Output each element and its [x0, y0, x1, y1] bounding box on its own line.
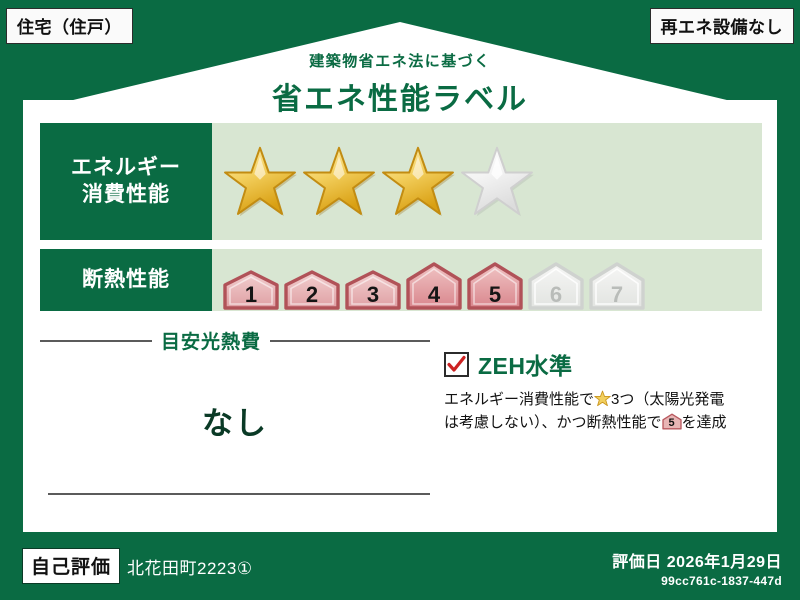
energy-performance-value	[212, 123, 762, 240]
insulation-performance-row: 断熱性能 1234567	[40, 249, 762, 311]
zeh-desc-part1: エネルギー消費性能で	[444, 391, 594, 408]
zeh-desc-star-count: 3つ（太陽光発電	[611, 391, 724, 408]
star-filled-icon	[301, 144, 377, 220]
inline-grade-badge: 5	[662, 413, 682, 430]
star-filled-icon	[222, 144, 298, 220]
insulation-grade-2: 2	[282, 269, 342, 311]
evaluation-type-badge: 自己評価	[22, 548, 120, 584]
label-content: エネルギー 消費性能 断熱性能 1234567 目安光熱費	[40, 123, 762, 495]
title-subtitle: 建築物省エネ法に基づく	[0, 50, 800, 71]
star-filled-icon	[380, 144, 456, 220]
zeh-title: ZEH水準	[478, 347, 573, 381]
page-title: 建築物省エネ法に基づく 省エネ性能ラベル	[0, 50, 800, 118]
insulation-grade-6: 6	[526, 261, 586, 311]
property-address: 北花田町2223①	[127, 554, 253, 579]
zeh-checkbox[interactable]	[444, 352, 469, 377]
insulation-label-text: 断熱性能	[82, 267, 170, 294]
zeh-desc-part2: は考慮しない）、かつ断熱性能で	[444, 414, 662, 431]
zeh-block: ZEH水準 エネルギー消費性能で 3つ（太陽光発電 は考慮しない）、かつ断熱性能…	[430, 327, 762, 495]
insulation-performance-label: 断熱性能	[40, 249, 212, 311]
insulation-performance-value: 1234567	[212, 249, 762, 311]
inline-grade-number: 5	[662, 418, 682, 429]
star-empty-icon	[459, 144, 535, 220]
energy-performance-label: 住宅（住戸） 再エネ設備なし 建築物省エネ法に基づく 省エネ性能ラベル エネルギ…	[0, 0, 800, 600]
footer-right-group: 評価日 2026年1月29日 99cc761c-1837-447d	[612, 548, 782, 588]
grade-number-7: 7	[587, 284, 647, 306]
insulation-grade-1: 1	[221, 269, 281, 311]
check-icon	[447, 355, 466, 374]
heading-rule-right	[270, 340, 430, 342]
label-footer: 自己評価 北花田町2223① 評価日 2026年1月29日 99cc761c-1…	[0, 532, 800, 600]
insulation-grade-5: 5	[465, 261, 525, 311]
renewable-energy-tag: 再エネ設備なし	[650, 8, 795, 44]
lower-section: 目安光熱費 なし ZEH水準 エネルギー消費性能で	[40, 327, 762, 495]
building-type-tag: 住宅（住戸）	[6, 8, 133, 44]
evaluation-date: 評価日 2026年1月29日	[612, 548, 782, 572]
zeh-heading: ZEH水準	[444, 347, 762, 381]
grade-number-1: 1	[221, 284, 281, 306]
energy-performance-label: エネルギー 消費性能	[40, 123, 212, 240]
grade-number-2: 2	[282, 284, 342, 306]
zeh-description: エネルギー消費性能で 3つ（太陽光発電 は考慮しない）、かつ断熱性能で 5 を達…	[444, 389, 762, 435]
grade-number-4: 4	[404, 284, 464, 306]
zeh-desc-part3: を達成	[682, 414, 727, 431]
energy-performance-row: エネルギー 消費性能	[40, 123, 762, 240]
insulation-grade-3: 3	[343, 269, 403, 311]
utility-cost-heading-text: 目安光熱費	[161, 327, 261, 354]
evaluation-id: 99cc761c-1837-447d	[612, 574, 782, 588]
utility-cost-bottom-rule	[48, 493, 430, 495]
footer-left-group: 自己評価 北花田町2223①	[22, 548, 253, 584]
energy-label-line1: エネルギー	[71, 155, 181, 182]
insulation-grade-7: 7	[587, 261, 647, 311]
title-main: 省エネ性能ラベル	[0, 74, 800, 118]
utility-cost-heading: 目安光熱費	[40, 327, 430, 354]
grade-number-6: 6	[526, 284, 586, 306]
utility-cost-block: 目安光熱費 なし	[40, 327, 430, 495]
star-rating	[212, 144, 535, 220]
heading-rule-left	[40, 340, 152, 342]
inline-star-icon	[594, 390, 611, 407]
grade-number-3: 3	[343, 284, 403, 306]
energy-label-line2: 消費性能	[82, 182, 170, 209]
grade-number-5: 5	[465, 284, 525, 306]
insulation-grade-4: 4	[404, 261, 464, 311]
insulation-grade-scale: 1234567	[212, 249, 648, 311]
utility-cost-value: なし	[40, 398, 430, 443]
